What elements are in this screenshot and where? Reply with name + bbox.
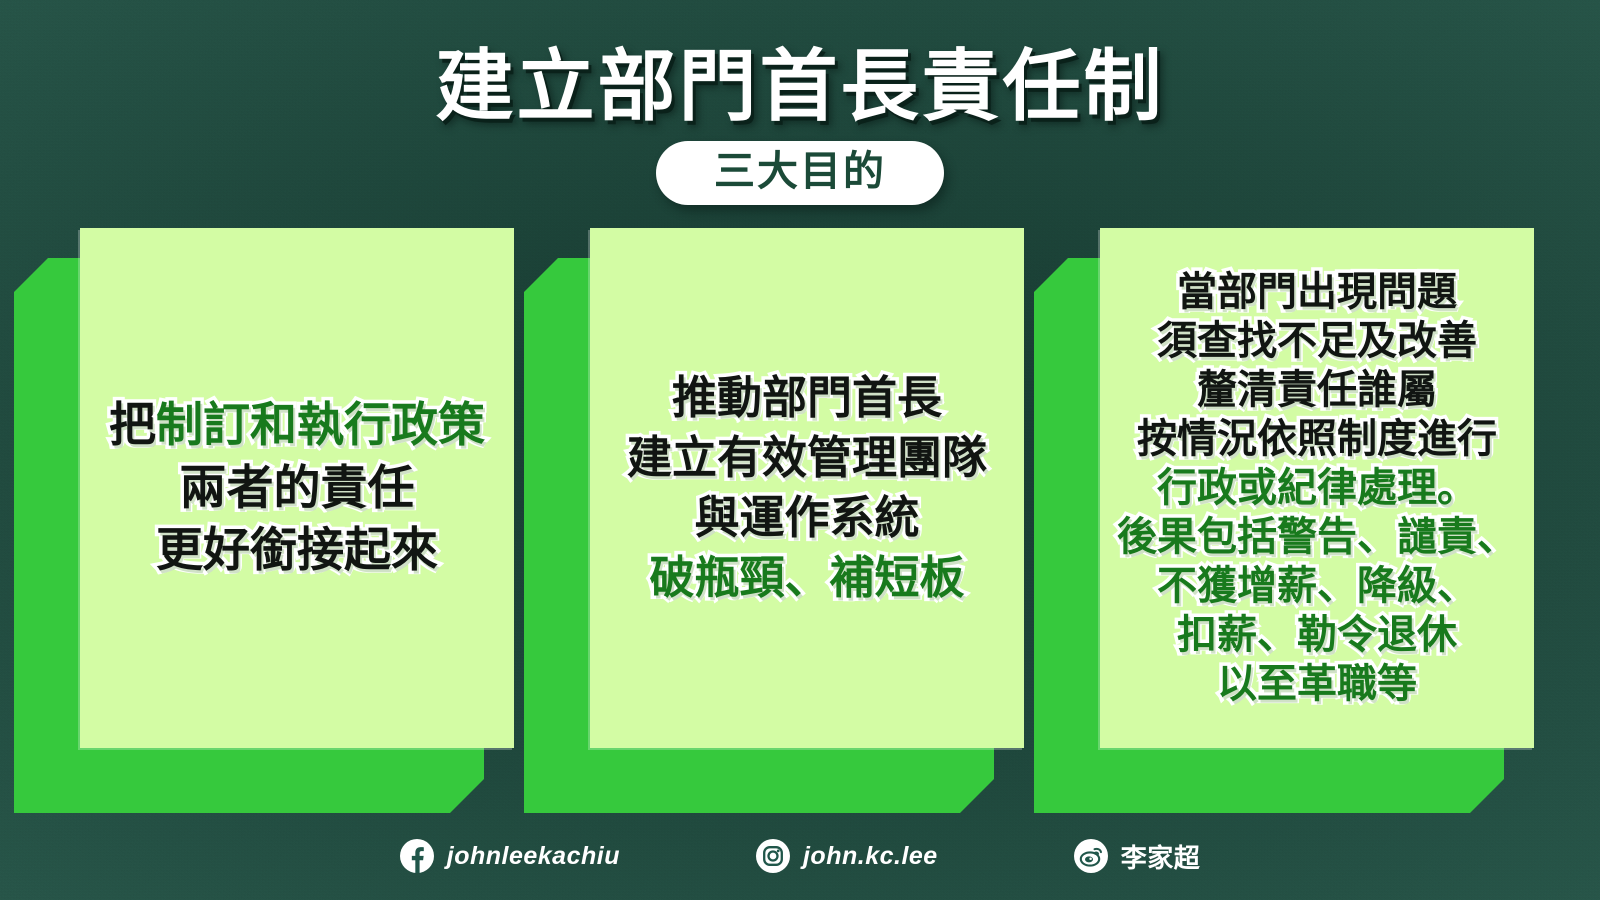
card-2-line-3: 與運作系統 [694,491,919,545]
social-footer: johnleekachiu john.kc.lee 李家超 [0,812,1600,900]
infographic-poster: 建立部門首長責任制 三大目的 把制訂和執行政策兩者的責任更好銜接起來 推動部門首… [0,0,1600,900]
card-3-line-5-seg-1: 行政或紀律處理。 [1157,466,1477,510]
cards-container: 把制訂和執行政策兩者的責任更好銜接起來 推動部門首長建立有效管理團隊與運作系統破… [0,228,1600,813]
card-1-text: 把制訂和執行政策兩者的責任更好銜接起來 [80,228,514,748]
subtitle-badge: 三大目的 [656,141,944,205]
card-3-line-9: 以至革職等 [1217,660,1417,708]
header: 建立部門首長責任制 三大目的 [0,0,1600,216]
card-3-line-6-seg-1: 後果包括警告、譴責、 [1117,515,1517,559]
card-3-line-3-seg-1: 釐清責任誰屬 [1197,368,1437,412]
purpose-card-2: 推動部門首長建立有效管理團隊與運作系統破瓶頸、補短板 [524,228,1024,813]
page-title: 建立部門首長責任制 [0,0,1600,126]
purpose-card-3: 當部門出現問題須查找不足及改善釐清責任誰屬按情況依照制度進行行政或紀律處理。後果… [1034,228,1534,813]
facebook-icon [400,839,434,873]
card-3-line-2-seg-1: 須查找不足及改善 [1157,319,1477,363]
card-1-line-1-seg-1: 把 [109,398,156,451]
card-2-line-2: 建立有效管理團隊 [627,431,987,485]
card-3-line-2: 須查找不足及改善 [1157,317,1477,365]
card-3-line-1-seg-1: 當部門出現問題 [1177,270,1457,314]
social-instagram[interactable]: john.kc.lee [756,839,938,873]
card-2-line-4-seg-1: 破瓶頸、補短板 [649,552,964,603]
subtitle-badge-label: 三大目的 [714,148,886,194]
instagram-icon [756,839,790,873]
card-1-line-2: 兩者的責任 [180,460,415,516]
card-2-line-2-seg-1: 建立有效管理團隊 [627,432,987,483]
card-3-line-4-seg-1: 按情況依照制度進行 [1137,417,1497,461]
card-2-line-1-seg-1: 推動部門首長 [672,372,942,423]
social-facebook[interactable]: johnleekachiu [400,839,620,873]
card-3-text: 當部門出現問題須查找不足及改善釐清責任誰屬按情況依照制度進行行政或紀律處理。後果… [1100,228,1534,748]
weibo-icon [1074,839,1108,873]
card-3-line-9-seg-1: 以至革職等 [1217,662,1417,706]
card-1-line-2-seg-1: 兩者的責任 [180,461,415,514]
card-3-line-4: 按情況依照制度進行 [1137,415,1497,463]
card-1-line-3: 更好銜接起來 [156,522,438,578]
card-2-text: 推動部門首長建立有效管理團隊與運作系統破瓶頸、補短板 [590,228,1024,748]
card-3-line-3: 釐清責任誰屬 [1197,366,1437,414]
card-3-line-8: 扣薪、勒令退休 [1177,611,1457,659]
card-3-line-1: 當部門出現問題 [1177,268,1457,316]
facebook-handle: johnleekachiu [447,842,620,871]
card-2-line-3-seg-1: 與運作系統 [694,492,919,543]
card-3-line-8-seg-1: 扣薪、勒令退休 [1177,613,1457,657]
card-2-line-1: 推動部門首長 [672,371,942,425]
card-2-line-4: 破瓶頸、補短板 [649,551,964,605]
social-weibo[interactable]: 李家超 [1074,838,1201,875]
instagram-handle: john.kc.lee [803,842,938,871]
card-1-line-1: 把制訂和執行政策 [109,397,485,453]
weibo-handle: 李家超 [1121,838,1201,875]
card-3-line-5: 行政或紀律處理。 [1157,464,1477,512]
card-3-line-7: 不獲增薪、降級、 [1157,562,1477,610]
card-1-line-3-seg-1: 更好銜接起來 [156,523,438,576]
card-3-line-7-seg-1: 不獲增薪、降級、 [1157,564,1477,608]
card-3-line-6: 後果包括警告、譴責、 [1117,513,1517,561]
purpose-card-1: 把制訂和執行政策兩者的責任更好銜接起來 [14,228,514,813]
card-1-line-1-seg-2: 制訂和執行政策 [156,398,485,451]
